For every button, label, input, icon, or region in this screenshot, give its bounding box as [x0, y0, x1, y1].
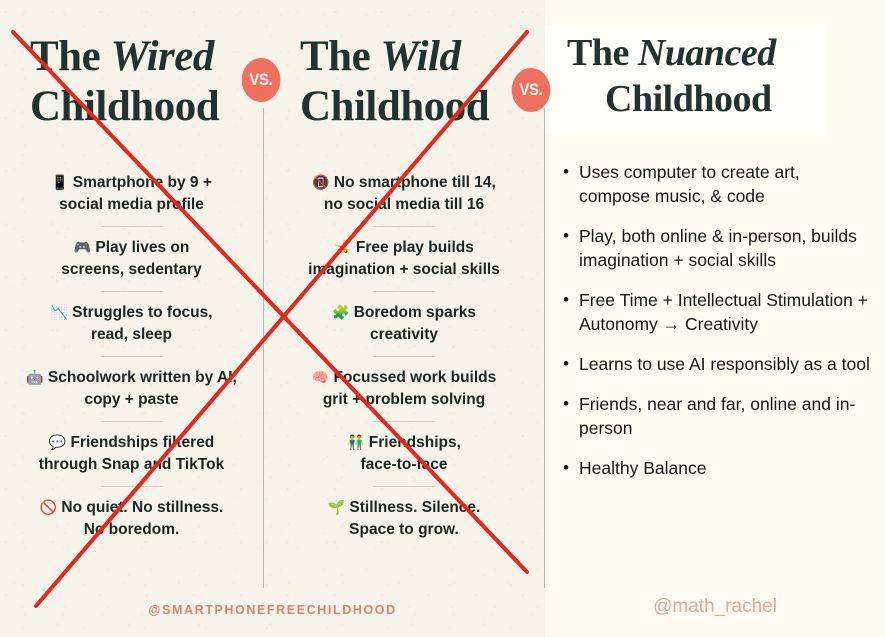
- list-item-text: through Snap and TikTok: [39, 456, 224, 473]
- list-item-text: read, sleep: [91, 326, 172, 343]
- list-item-text: Stillness. Silence.: [345, 499, 480, 516]
- mobile-phone-emoji: 📱: [51, 175, 68, 191]
- list-item: 🚫 No quiet. No stillness.No boredom.: [0, 497, 263, 540]
- item-separator: [373, 356, 435, 357]
- bullet-item: •Play, both online & in-person, builds i…: [563, 224, 873, 272]
- item-separator: [373, 291, 435, 292]
- item-separator: [101, 421, 163, 422]
- bullet-dot-icon: •: [563, 160, 579, 208]
- list-item-text: Struggles to focus,: [68, 304, 213, 321]
- list-item: 🤸 Free play buildsimagination + social s…: [263, 237, 545, 280]
- speech-balloon-emoji: 💬: [49, 435, 66, 451]
- bullet-dot-icon: •: [563, 288, 579, 336]
- heading-wired-prefix: The: [30, 33, 110, 80]
- bullet-dot-icon: •: [563, 352, 579, 376]
- list-item: 🎮 Play lives onscreens, sedentary: [0, 237, 263, 280]
- heading-wired-emphasis: Wired: [110, 33, 213, 80]
- vs-badge-2-label: VS.: [519, 80, 542, 100]
- list-item-text: No quiet. No stillness.: [57, 499, 223, 516]
- bullet-item: •Learns to use AI responsibly as a tool: [563, 352, 873, 376]
- item-separator: [373, 226, 435, 227]
- list-item-text: grit + problem solving: [323, 391, 485, 408]
- list-item: 📵 No smartphone till 14,no social media …: [263, 172, 545, 215]
- heading-nuanced-prefix: The: [567, 32, 638, 74]
- list-item-text: copy + paste: [84, 391, 178, 408]
- list-item: 🧩 Boredom sparkscreativity: [263, 302, 545, 345]
- bullet-item: •Uses computer to create art, compose mu…: [563, 160, 873, 208]
- list-item-text: Play lives on: [91, 239, 189, 256]
- list-item-text: Smartphone by 9 +: [69, 174, 212, 191]
- bullet-text: Uses computer to create art, compose mus…: [579, 160, 873, 208]
- bullet-item: •Friends, near and far, online and in-pe…: [563, 392, 873, 440]
- prohibited-emoji: 🚫: [40, 500, 57, 516]
- two-people-emoji: 👬: [347, 435, 364, 451]
- bullet-item: •Free Time + Intellectual Stimulation + …: [563, 288, 873, 336]
- list-item-text: Boredom sparks: [349, 304, 476, 321]
- list-item-text: Friendships,: [364, 434, 460, 451]
- no-mobile-phones-emoji: 📵: [312, 175, 329, 191]
- vs-badge-1: VS.: [242, 58, 281, 102]
- bullet-text: Friends, near and far, online and in-per…: [579, 392, 873, 440]
- heading-wild-emphasis: Wild: [380, 33, 460, 80]
- list-nuanced-bullets: •Uses computer to create art, compose mu…: [563, 160, 873, 496]
- list-item-text: social media profile: [59, 196, 204, 213]
- vs-badge-2: VS.: [512, 68, 551, 112]
- chart-decreasing-emoji: 📉: [50, 305, 67, 321]
- bullet-dot-icon: •: [563, 456, 579, 480]
- item-separator: [101, 226, 163, 227]
- heading-wired-line2: Childhood: [30, 83, 219, 130]
- bullet-text: Free Time + Intellectual Stimulation + A…: [579, 288, 873, 336]
- bullet-text: Learns to use AI responsibly as a tool: [579, 352, 873, 376]
- person-playing-emoji: 🤸: [334, 240, 351, 256]
- list-item-text: Space to grow.: [349, 521, 459, 538]
- list-item-text: Friendships filtered: [66, 434, 214, 451]
- seedling-emoji: 🌱: [328, 500, 345, 516]
- list-item-text: imagination + social skills: [308, 261, 500, 278]
- heading-nuanced-childhood: The Nuanced Childhood: [567, 30, 867, 122]
- list-item-text: Focussed work builds: [329, 369, 496, 386]
- list-item: 🧠 Focussed work buildsgrit + problem sol…: [263, 367, 545, 410]
- heading-nuanced-emphasis: Nuanced: [638, 32, 776, 74]
- heading-wild-childhood: The Wild Childhood: [300, 32, 530, 132]
- list-item: 📉 Struggles to focus,read, sleep: [0, 302, 263, 345]
- bullet-dot-icon: •: [563, 392, 579, 440]
- list-item: 💬 Friendships filteredthrough Snap and T…: [0, 432, 263, 475]
- list-item-text: Free play builds: [352, 239, 474, 256]
- footer-handle-math-rachel: @math_rachel: [545, 596, 885, 618]
- heading-wild-line2: Childhood: [300, 83, 489, 130]
- list-item: 🌱 Stillness. Silence.Space to grow.: [263, 497, 545, 540]
- item-separator: [101, 486, 163, 487]
- column-nuanced-childhood: The Nuanced Childhood •Uses computer to …: [545, 0, 885, 637]
- bullet-text: Play, both online & in-person, builds im…: [579, 224, 873, 272]
- column-wired-childhood: The Wired Childhood 📱 Smartphone by 9 +s…: [0, 0, 263, 637]
- list-wild-items: 📵 No smartphone till 14,no social media …: [263, 172, 545, 540]
- bullet-dot-icon: •: [563, 224, 579, 272]
- item-separator: [373, 486, 435, 487]
- list-item-text: creativity: [370, 326, 438, 343]
- list-item-text: No boredom.: [84, 521, 180, 538]
- list-item: 📱 Smartphone by 9 +social media profile: [0, 172, 263, 215]
- infographic-canvas: The Wired Childhood 📱 Smartphone by 9 +s…: [0, 0, 885, 637]
- bullet-item: •Healthy Balance: [563, 456, 873, 480]
- column-wild-childhood: The Wild Childhood 📵 No smartphone till …: [263, 0, 545, 637]
- video-game-controller-emoji: 🎮: [74, 240, 91, 256]
- heading-wild-prefix: The: [300, 33, 380, 80]
- brain-emoji: 🧠: [312, 370, 329, 386]
- list-item-text: no social media till 16: [324, 196, 484, 213]
- list-item-text: face-to-face: [361, 456, 448, 473]
- heading-wired-childhood: The Wired Childhood: [30, 32, 260, 132]
- puzzle-piece-emoji: 🧩: [332, 305, 349, 321]
- list-item-text: Schoolwork written by AI,: [44, 369, 237, 386]
- list-wired-items: 📱 Smartphone by 9 +social media profile🎮…: [0, 172, 263, 540]
- list-item-text: screens, sedentary: [61, 261, 201, 278]
- item-separator: [101, 356, 163, 357]
- list-item: 👬 Friendships,face-to-face: [263, 432, 545, 475]
- item-separator: [101, 291, 163, 292]
- bullet-text: Healthy Balance: [579, 456, 873, 480]
- list-item-text: No smartphone till 14,: [330, 174, 496, 191]
- vs-badge-1-label: VS.: [249, 70, 272, 90]
- list-item: 🤖 Schoolwork written by AI,copy + paste: [0, 367, 263, 410]
- heading-nuanced-line2: Childhood: [567, 76, 867, 122]
- robot-emoji: 🤖: [26, 370, 43, 386]
- footer-handle-smartphonefreechildhood: @SMARTPHONEFREECHILDHOOD: [0, 603, 545, 617]
- item-separator: [373, 421, 435, 422]
